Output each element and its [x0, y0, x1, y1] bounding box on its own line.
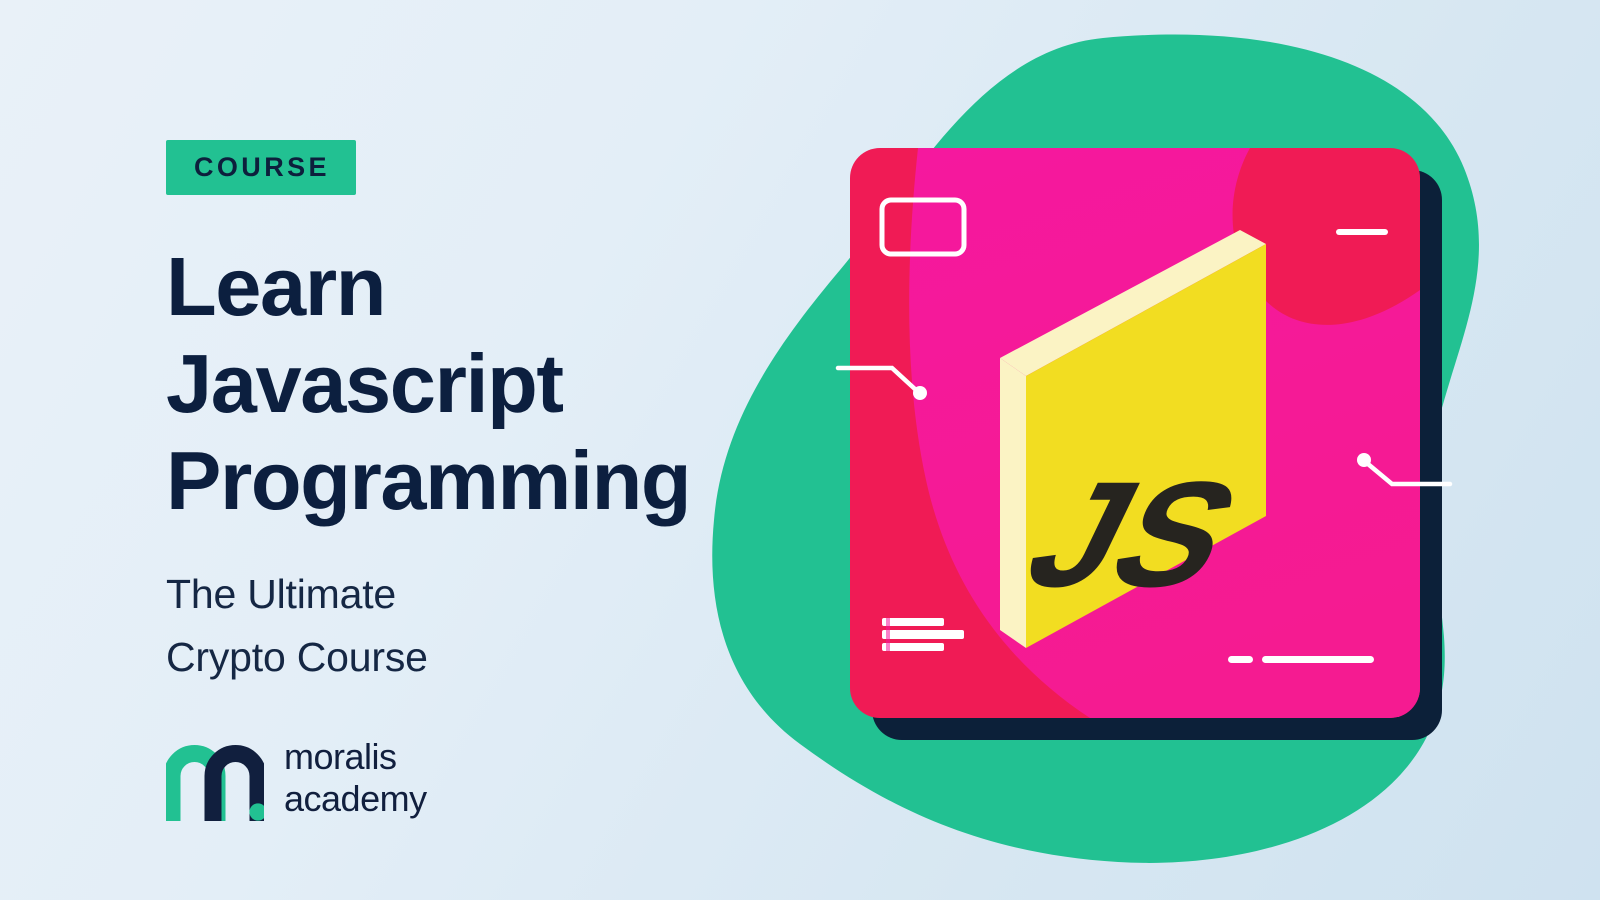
logo-wordmark: moralis academy [284, 736, 427, 821]
connector-dot-left [913, 386, 927, 400]
headline-line-1: Learn [166, 238, 786, 335]
page-subtitle: The Ultimate Crypto Course [166, 563, 786, 688]
page-title: Learn Javascript Programming [166, 238, 786, 529]
headline-line-3: Programming [166, 432, 786, 529]
moralis-academy-logo: moralis academy [166, 736, 786, 821]
course-badge: COURSE [166, 140, 356, 195]
course-banner: COURSE Learn Javascript Programming The … [0, 0, 1600, 900]
logo-word-2: academy [284, 778, 427, 820]
text-column: COURSE Learn Javascript Programming The … [166, 140, 786, 821]
headline-line-2: Javascript [166, 335, 786, 432]
moralis-m-logo-mark-icon [166, 736, 264, 821]
dash-pair-bottom-right-icon [1228, 656, 1374, 663]
short-dash-top-right-icon [1336, 229, 1388, 235]
javascript-illustration: JS [830, 140, 1470, 760]
logo-word-1: moralis [284, 736, 427, 778]
subtitle-line-2: Crypto Course [166, 626, 786, 688]
subtitle-line-1: The Ultimate [166, 563, 786, 625]
